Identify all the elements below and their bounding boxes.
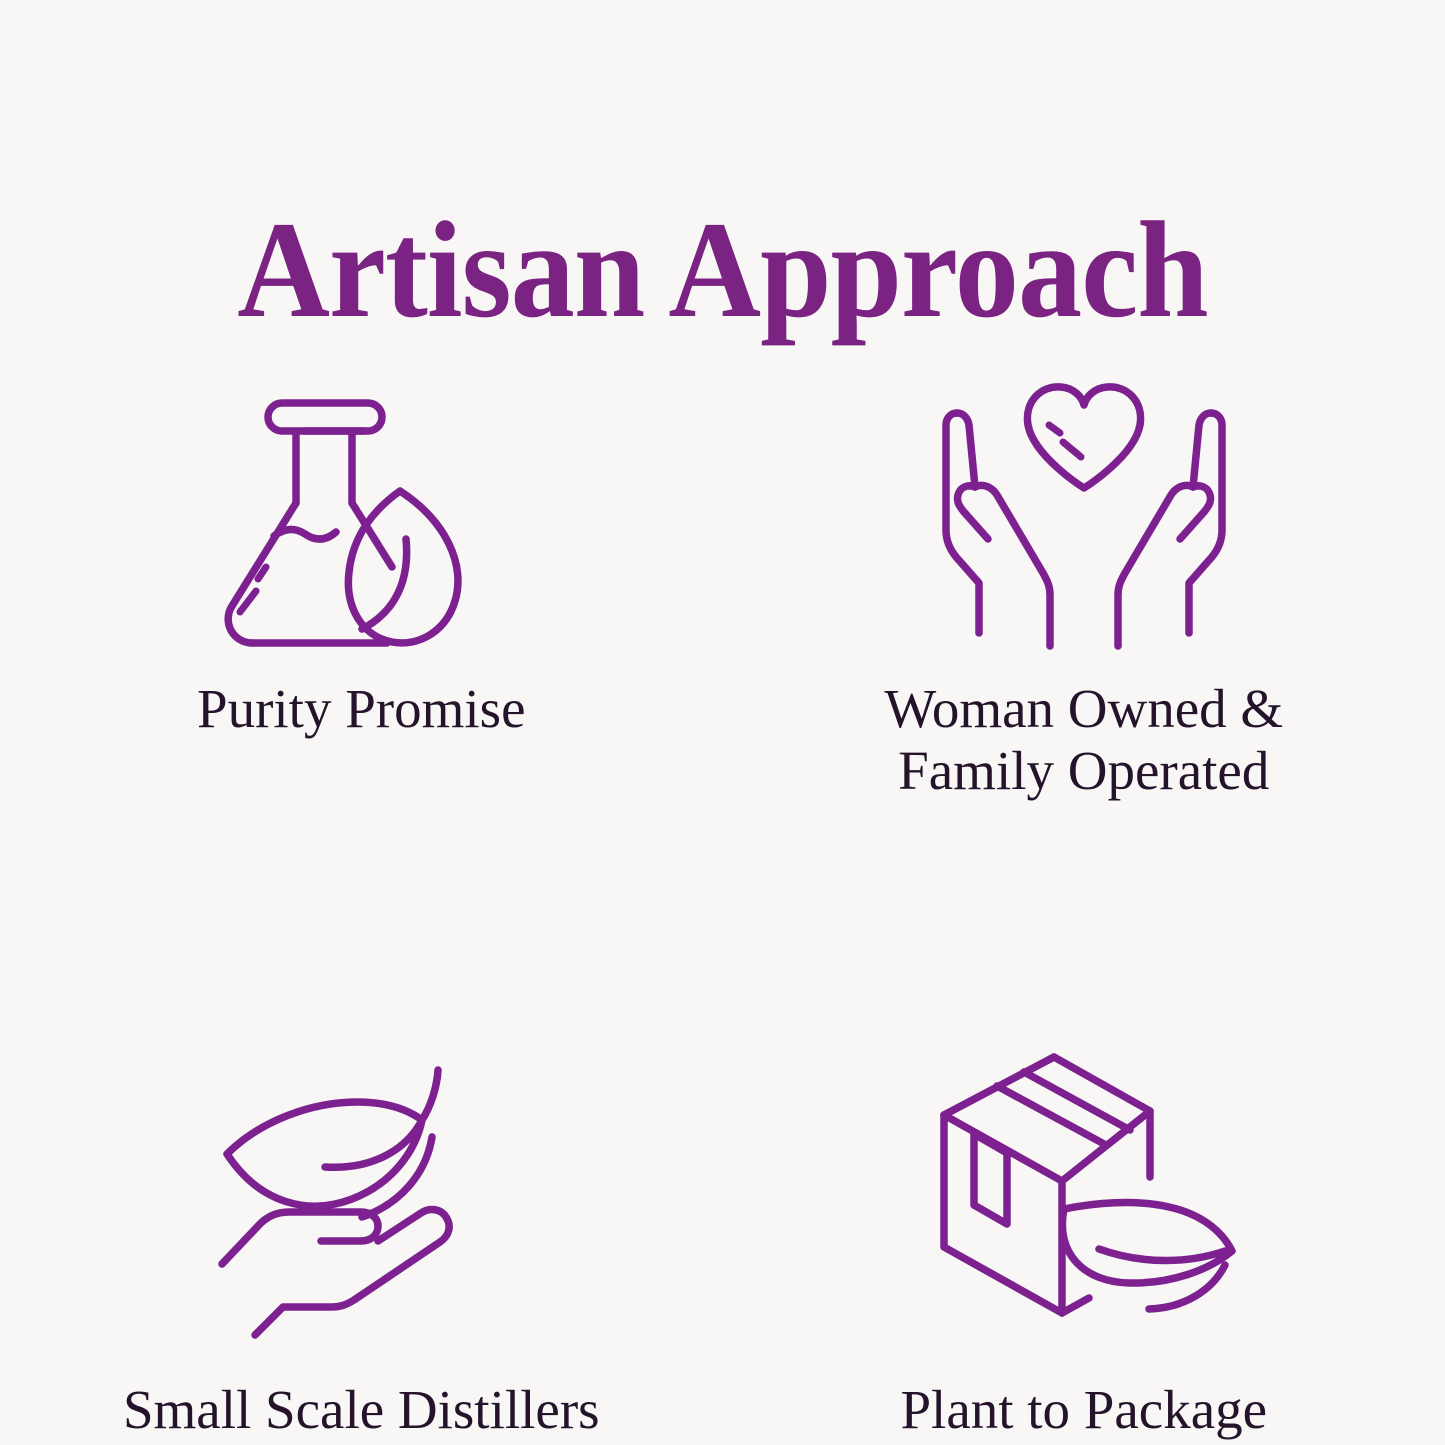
hand-holding-leaf-icon (211, 1039, 511, 1339)
flask-leaf-icon (211, 358, 511, 658)
artisan-approach-graphic: Artisan Approach (0, 0, 1445, 1445)
feature-grid: Purity Promise (0, 340, 1445, 1340)
feature-label: Purity Promise (197, 678, 526, 740)
feature-label: Woman Owned & Family Operated (884, 678, 1283, 801)
box-leaf-icon (934, 1039, 1234, 1339)
feature-label: Plant to Package (900, 1379, 1267, 1441)
feature-item-woman-owned: Woman Owned & Family Operated (723, 340, 1445, 801)
hands-holding-heart-icon (934, 358, 1234, 658)
page-title: Artisan Approach (51, 200, 1395, 341)
feature-label: Small Scale Distillers (123, 1379, 600, 1441)
feature-item-purity-promise: Purity Promise (0, 340, 723, 801)
feature-item-plant-to-package: Plant to Package (723, 801, 1445, 1441)
feature-item-small-scale-distillers: Small Scale Distillers (0, 801, 723, 1441)
